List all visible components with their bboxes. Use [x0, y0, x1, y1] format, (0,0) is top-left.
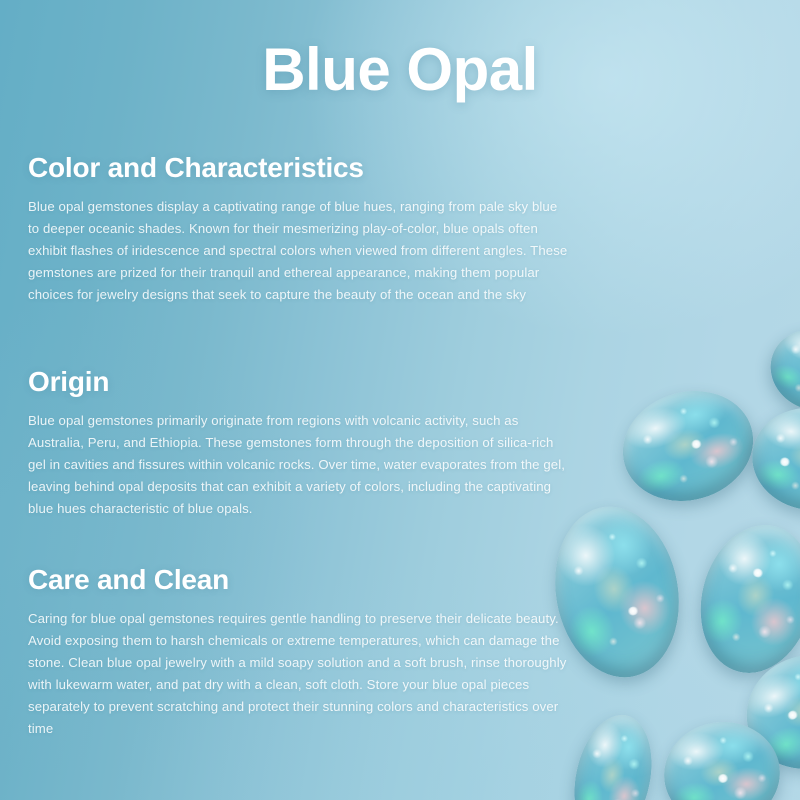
- opal-color-flecks: [610, 376, 767, 516]
- opal-color-flecks: [759, 317, 800, 423]
- section-care-and-clean: Care and Clean Caring for blue opal gems…: [28, 564, 572, 740]
- section-body: Blue opal gemstones display a captivatin…: [28, 196, 572, 306]
- opal-gemstone: [685, 513, 800, 685]
- opal-color-flecks: [685, 513, 800, 685]
- opal-highlight: [689, 438, 702, 450]
- opal-body: [759, 317, 800, 423]
- opal-rim-shading: [759, 317, 800, 423]
- section-heading: Origin: [28, 366, 572, 398]
- opal-highlight: [786, 709, 800, 721]
- opal-body: [745, 400, 800, 517]
- section-origin: Origin Blue opal gemstones primarily ori…: [28, 366, 572, 520]
- opal-body: [659, 716, 785, 800]
- opal-highlight: [779, 457, 791, 467]
- opal-rim-shading: [564, 708, 663, 800]
- opal-gemstone: [659, 716, 785, 800]
- opal-gemstone: [564, 708, 663, 800]
- opal-gemstone: [759, 317, 800, 423]
- section-body: Caring for blue opal gemstones requires …: [28, 608, 572, 740]
- section-heading: Care and Clean: [28, 564, 572, 596]
- opal-rim-shading: [659, 716, 785, 800]
- opal-highlight: [717, 773, 729, 783]
- page-title: Blue Opal: [0, 38, 800, 101]
- opal-highlight: [627, 606, 639, 617]
- opal-gemstone: [729, 637, 800, 787]
- opal-color-flecks: [564, 708, 663, 800]
- opal-rim-shading: [729, 637, 800, 787]
- opal-color-flecks: [659, 716, 785, 800]
- opal-body: [610, 376, 767, 516]
- opal-body: [564, 708, 663, 800]
- opal-rim-shading: [745, 400, 800, 517]
- section-heading: Color and Characteristics: [28, 152, 572, 184]
- opal-highlight: [751, 567, 764, 578]
- opal-gemstone: [610, 376, 767, 516]
- article-content: Color and Characteristics Blue opal gems…: [28, 152, 572, 748]
- opal-body: [729, 637, 800, 787]
- section-color-and-characteristics: Color and Characteristics Blue opal gems…: [28, 152, 572, 306]
- opal-rim-shading: [685, 513, 800, 685]
- blue-opal-poster: Blue Opal Color and Characteristics Blue…: [0, 0, 800, 800]
- opal-color-flecks: [729, 637, 800, 787]
- opal-rim-shading: [610, 376, 767, 516]
- opal-body: [685, 513, 800, 685]
- opal-gemstone: [745, 400, 800, 517]
- section-body: Blue opal gemstones primarily originate …: [28, 410, 572, 520]
- opal-color-flecks: [745, 400, 800, 517]
